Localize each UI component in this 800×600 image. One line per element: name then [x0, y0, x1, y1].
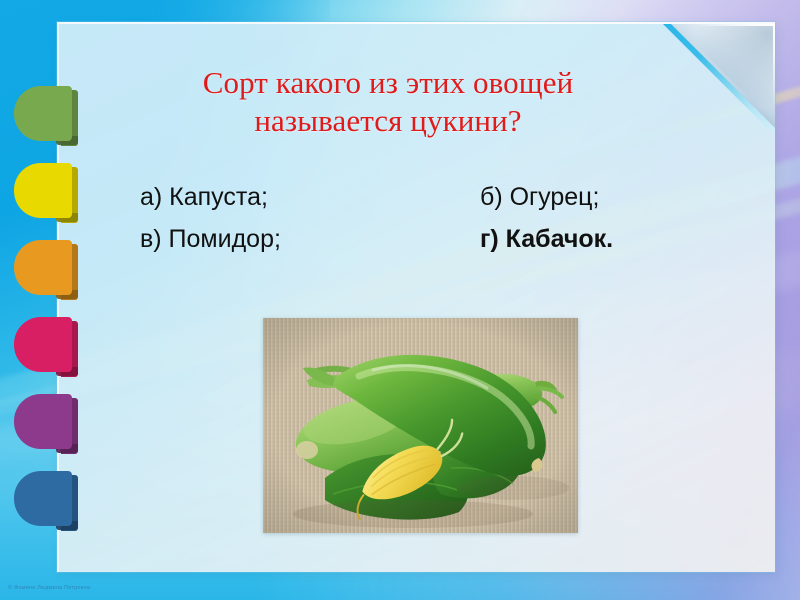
bookmark-tabs	[14, 86, 94, 548]
answer-row-1: а) Капуста; б) Огурец;	[140, 180, 700, 214]
question-title: Сорт какого из этих овощей называется цу…	[78, 64, 698, 140]
bookmark-tab-face	[14, 163, 72, 218]
zucchini-photo-illustration	[263, 318, 578, 533]
copyright-credit: © Фомина Людмила Петровна	[8, 584, 90, 592]
bookmark-tab-pink[interactable]	[14, 317, 72, 372]
answer-option-v[interactable]: в) Помидор;	[140, 222, 480, 256]
bookmark-tab-face	[14, 240, 72, 295]
question-title-line-2: называется цукини?	[78, 102, 698, 140]
answer-option-a[interactable]: а) Капуста;	[140, 180, 480, 214]
quiz-slide: Сорт какого из этих овощей называется цу…	[0, 0, 800, 600]
bookmark-tab-face	[14, 317, 72, 372]
answer-option-g[interactable]: г) Кабачок.	[480, 222, 700, 256]
answer-options: а) Капуста; б) Огурец; в) Помидор; г) Ка…	[140, 180, 700, 264]
bookmark-tab-face	[14, 394, 72, 449]
bookmark-tab-purple[interactable]	[14, 394, 72, 449]
bookmark-tab-blue[interactable]	[14, 471, 72, 526]
bookmark-tab-orange[interactable]	[14, 240, 72, 295]
question-title-line-1: Сорт какого из этих овощей	[78, 64, 698, 102]
bookmark-tab-green[interactable]	[14, 86, 72, 141]
bookmark-tab-yellow[interactable]	[14, 163, 72, 218]
bookmark-tab-face	[14, 86, 72, 141]
answer-option-b[interactable]: б) Огурец;	[480, 180, 700, 214]
zucchini-photo	[263, 318, 578, 533]
answer-row-2: в) Помидор; г) Кабачок.	[140, 222, 700, 256]
bookmark-tab-face	[14, 471, 72, 526]
